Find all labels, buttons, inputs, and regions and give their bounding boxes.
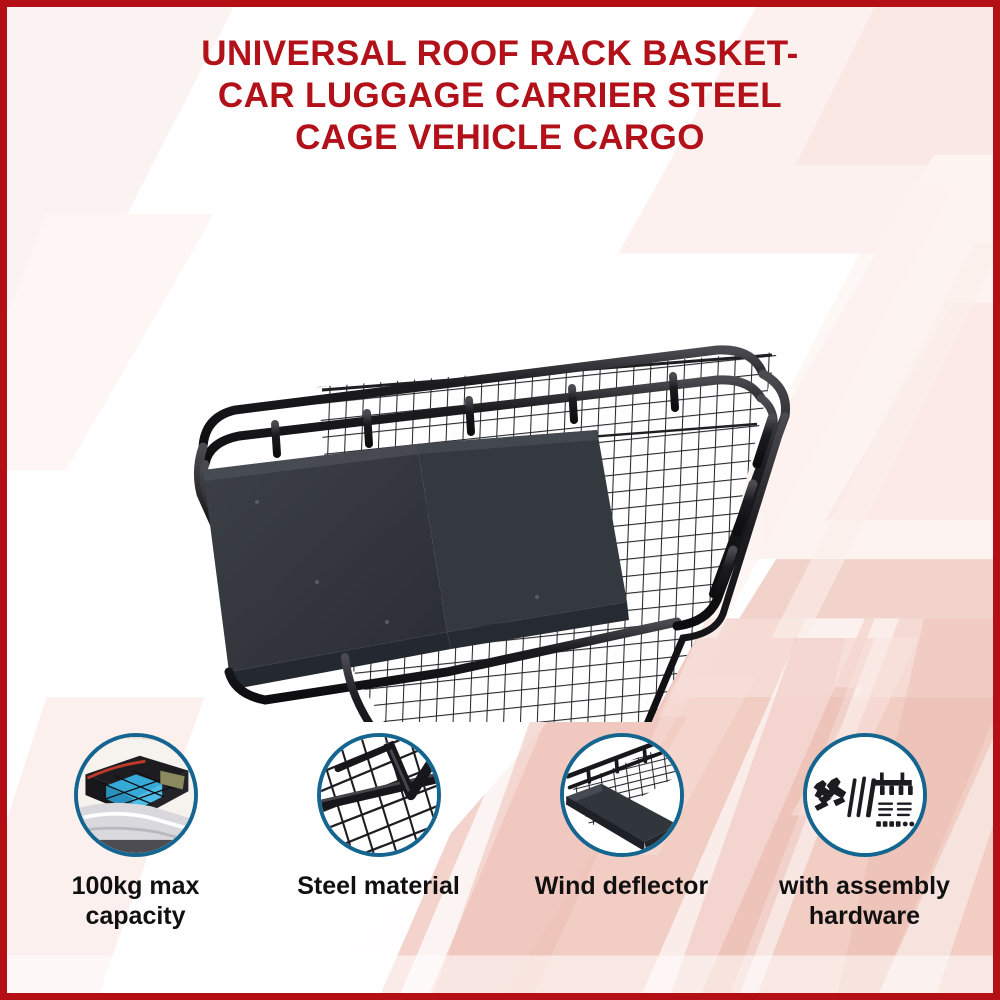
feature-item-material: Steel material (257, 733, 500, 963)
feature-item-deflector: Wind deflector (500, 733, 743, 963)
product-image-card: UNIVERSAL ROOF RACK BASKET- CAR LUGGAGE … (0, 0, 1000, 1000)
title-line-1: UNIVERSAL ROOF RACK BASKET- (157, 33, 843, 75)
feature-label-deflector: Wind deflector (535, 871, 708, 901)
feature-label-material: Steel material (297, 871, 460, 901)
title-line-3: CAGE VEHICLE CARGO (157, 117, 843, 159)
feature-list: 100kg max capacity (14, 733, 986, 963)
wind-deflector-closeup-icon (560, 733, 684, 857)
feature-item-capacity: 100kg max capacity (14, 733, 257, 963)
page-title: UNIVERSAL ROOF RACK BASKET- CAR LUGGAGE … (7, 33, 993, 159)
assembly-hardware-icon (803, 733, 927, 857)
feature-label-hardware: with assembly hardware (760, 871, 970, 931)
steel-mesh-closeup-icon (317, 733, 441, 857)
feature-item-hardware: with assembly hardware (743, 733, 986, 963)
title-line-2: CAR LUGGAGE CARRIER STEEL (157, 75, 843, 117)
feature-label-capacity: 100kg max capacity (31, 871, 241, 931)
product-hero-image (117, 202, 907, 722)
loaded-roof-rack-photo-icon (74, 733, 198, 857)
